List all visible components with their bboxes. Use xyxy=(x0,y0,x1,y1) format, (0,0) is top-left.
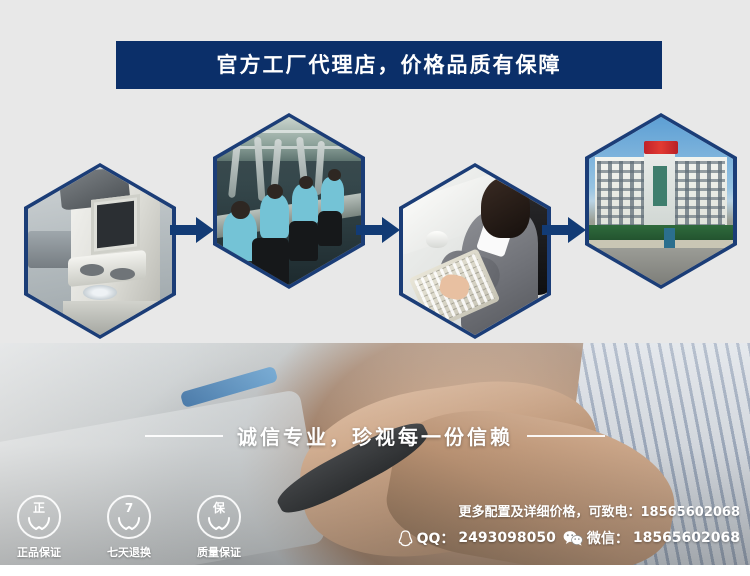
hands-icon-1 xyxy=(19,517,59,530)
tagline-rule-right xyxy=(527,435,605,437)
photo-customer-service-staff xyxy=(403,167,547,335)
worker-head-4 xyxy=(328,169,341,181)
hands-icon-2 xyxy=(109,517,149,530)
building-kerb xyxy=(589,240,733,248)
tagline-text: 诚信专业，珍视每一份信赖 xyxy=(237,421,513,450)
staff-hair xyxy=(481,177,530,237)
computer-mouse xyxy=(426,231,448,248)
seven-day-return-icon: 7 xyxy=(107,495,151,539)
machine-base xyxy=(63,301,158,335)
chair-3 xyxy=(318,211,342,246)
wechat-icon xyxy=(563,530,583,546)
machine-illustration xyxy=(28,167,172,335)
wechat-number: 18565602068 xyxy=(633,530,740,546)
contact-im-line: QQ： 2493098050 xyxy=(398,528,740,548)
building-rooftop-sign xyxy=(644,141,679,154)
photo-laser-marking-machine xyxy=(28,167,172,335)
wechat-label: 微信： xyxy=(587,528,629,548)
promotional-banner-page: 官方工厂代理店，价格品质有保障 xyxy=(0,0,750,576)
hands-icon-3 xyxy=(199,517,239,530)
worker-3 xyxy=(292,184,318,224)
top-section: 官方工厂代理店，价格品质有保障 xyxy=(0,0,750,343)
contact-phone-line: 更多配置及详细价格，可致电：18565602068 xyxy=(459,501,741,520)
banner-title-text: 官方工厂代理店，价格品质有保障 xyxy=(217,55,562,76)
guarantee-badge-quality: 保 质量保证 xyxy=(186,495,252,560)
building-illustration xyxy=(589,117,733,285)
arrow-step-3-to-4-icon xyxy=(542,215,586,245)
machine-knob-right xyxy=(110,268,134,280)
wechat-contact[interactable]: 微信： 18565602068 xyxy=(563,528,740,548)
tagline-rule-left xyxy=(145,435,223,437)
ceiling-light-line-1 xyxy=(217,130,361,133)
guarantee-badge-return: 7 七天退换 xyxy=(96,495,162,560)
hex-inner-frame-2 xyxy=(217,117,361,285)
guarantee-label-return: 七天退换 xyxy=(107,544,151,560)
tagline: 诚信专业，珍视每一份信赖 xyxy=(0,421,750,450)
genuine-product-glyph: 正 xyxy=(19,502,59,514)
process-step-company-office-building xyxy=(585,113,737,289)
process-step-laser-marking-machine xyxy=(24,163,176,339)
seven-day-return-glyph: 7 xyxy=(109,502,149,514)
air-hose-1 xyxy=(228,140,241,198)
hex-inner-frame-3 xyxy=(403,167,547,335)
qq-number: 2493098050 xyxy=(458,530,555,546)
chair-2 xyxy=(289,221,318,261)
qq-contact[interactable]: QQ： 2493098050 xyxy=(398,528,556,548)
quality-guarantee-icon: 保 xyxy=(197,495,241,539)
quality-guarantee-glyph: 保 xyxy=(199,502,239,514)
guarantee-badges: 正 正品保证 7 xyxy=(6,495,252,560)
office-illustration xyxy=(403,167,547,335)
guarantee-badge-genuine: 正 正品保证 xyxy=(6,495,72,560)
factory-illustration xyxy=(217,117,361,285)
guarantee-label-quality: 质量保证 xyxy=(197,544,241,560)
guarantee-label-genuine: 正品保证 xyxy=(17,544,61,560)
worker-2 xyxy=(260,194,289,238)
contact-info: 更多配置及详细价格，可致电：18565602068 QQ： 2493098050 xyxy=(398,501,740,548)
worker-4 xyxy=(321,177,344,214)
hex-inner-frame-1 xyxy=(28,167,172,335)
bottom-white-strip xyxy=(0,565,750,576)
title-banner: 官方工厂代理店，价格品质有保障 xyxy=(116,41,662,89)
hex-inner-frame-4 xyxy=(589,117,733,285)
chair-1 xyxy=(252,238,289,285)
qq-penguin-icon xyxy=(398,530,413,547)
photo-factory-assembly-line xyxy=(217,117,361,285)
qq-label: QQ： xyxy=(417,528,455,548)
arrow-step-1-to-2-icon xyxy=(170,215,214,245)
arrow-step-2-to-3-icon xyxy=(356,215,400,245)
genuine-product-icon: 正 xyxy=(17,495,61,539)
photo-company-office-building xyxy=(589,117,733,285)
bottom-section: 诚信专业，珍视每一份信赖 正 正品保证 7 xyxy=(0,343,750,565)
process-step-customer-service-staff xyxy=(399,163,551,339)
machine-work-disc xyxy=(83,285,118,300)
process-step-factory-assembly-line xyxy=(213,113,365,289)
building-road xyxy=(589,248,733,285)
machine-monitor xyxy=(91,194,140,255)
